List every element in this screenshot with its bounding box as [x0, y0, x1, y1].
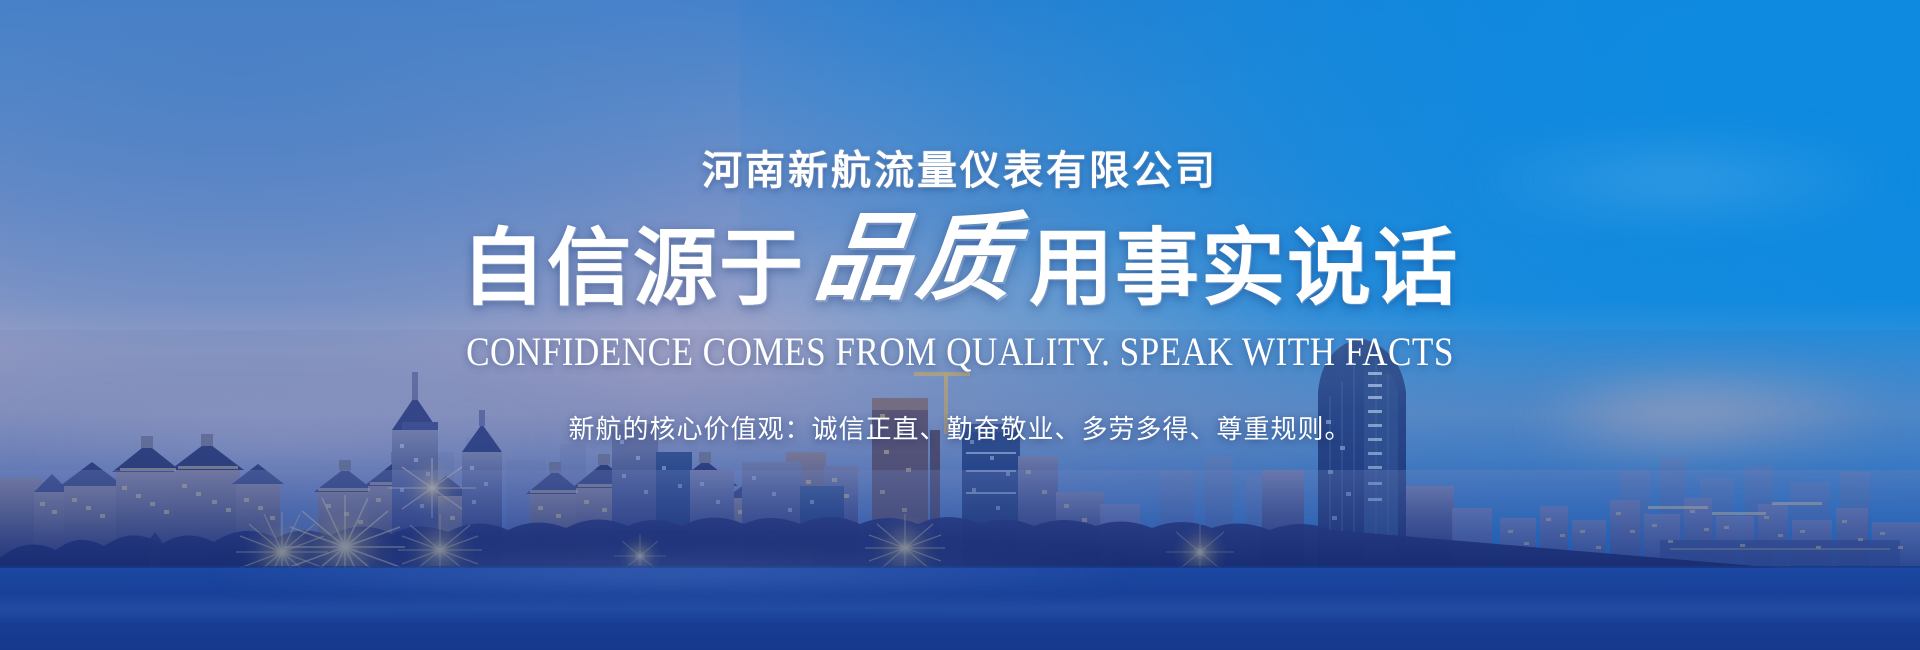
hero-banner: 河南新航流量仪表有限公司 自信源于品质用事实说话 CONFIDENCE COME…	[0, 0, 1920, 650]
headline-emphasis: 品质	[811, 210, 1025, 306]
banner-text-block: 河南新航流量仪表有限公司 自信源于品质用事实说话 CONFIDENCE COME…	[0, 0, 1920, 446]
headline-prefix: 自信源于	[461, 219, 805, 317]
tagline-english: CONFIDENCE COMES FROM QUALITY. SPEAK WIT…	[115, 328, 1805, 375]
core-values-statement: 新航的核心价值观：诚信正直、勤奋敬业、多劳多得、尊重规则。	[0, 409, 1920, 446]
headline: 自信源于品质用事实说话	[0, 216, 1920, 312]
water-reflection-glow	[220, 548, 1120, 598]
headline-suffix: 用事实说话	[1029, 219, 1459, 317]
water-sheen	[0, 594, 1920, 624]
company-name: 河南新航流量仪表有限公司	[0, 148, 1920, 194]
